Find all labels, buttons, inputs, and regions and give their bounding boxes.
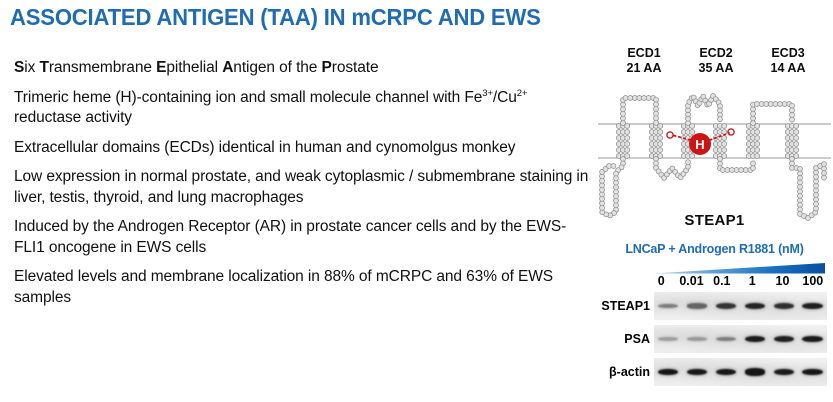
protein-name-label: STEAP1 <box>596 212 833 229</box>
paragraph-heme-channel-part2: /Cu <box>493 89 517 106</box>
concentration-5: 100 <box>798 274 828 288</box>
blot-row-image <box>654 292 827 320</box>
paragraph-normal-expression: Low expression in normal prostate, and w… <box>14 167 590 208</box>
blot-title: LNCaP + Androgen R1881 (nM) <box>596 242 833 256</box>
heme-his-residue-left <box>667 132 673 138</box>
blot-row-actin: β-actin <box>596 358 833 386</box>
blot-band <box>716 303 736 309</box>
fe-charge-superscript: 3+ <box>482 87 493 98</box>
ecd1-label: ECD1 21 AA <box>618 46 670 76</box>
paragraph-ar-induction: Induced by the Androgen Receptor (AR) in… <box>14 217 590 258</box>
topology-svg: H <box>596 82 833 222</box>
concentration-2: 0.1 <box>707 274 737 288</box>
concentration-row: 00.010.1110100 <box>646 274 828 290</box>
ecd3-label: ECD3 14 AA <box>762 46 814 76</box>
blot-panels: STEAP1PSAβ-actin <box>596 292 833 391</box>
paragraph-heme-channel-part1: Trimeric heme (H)-containing ion and sma… <box>14 89 482 106</box>
concentration-0: 0 <box>646 274 676 288</box>
ecd1-length: 21 AA <box>618 61 670 76</box>
blot-band <box>687 337 707 341</box>
page-title: ASSOCIATED ANTIGEN (TAA) IN mCRPC AND EW… <box>10 4 792 31</box>
right-figure-column: ECD1 21 AA ECD2 35 AA ECD3 14 AA H <box>596 46 833 402</box>
ecd2-name: ECD2 <box>699 46 732 60</box>
paragraph-heme-channel-part3: reductase activity <box>14 109 132 126</box>
western-blot-figure: LNCaP + Androgen R1881 (nM) 00.010.11101… <box>596 242 833 256</box>
ecd3-name: ECD3 <box>771 46 804 60</box>
concentration-3: 1 <box>737 274 767 288</box>
ecd-header-row: ECD1 21 AA ECD2 35 AA ECD3 14 AA <box>596 46 833 82</box>
heme-letter: H <box>695 137 704 152</box>
concentration-4: 10 <box>767 274 797 288</box>
paragraph-ecd-identity: Extracellular domains (ECDs) identical i… <box>14 138 590 159</box>
cu-charge-superscript: 2+ <box>517 87 528 98</box>
blot-row-label: β-actin <box>596 358 650 386</box>
concentration-1: 0.01 <box>676 274 706 288</box>
blot-band <box>658 337 678 341</box>
blot-band <box>745 368 765 375</box>
gradient-triangle <box>653 263 825 274</box>
blot-band <box>774 303 794 309</box>
blot-background <box>654 358 827 386</box>
blot-row-psa: PSA <box>596 325 833 353</box>
blot-row-image <box>654 325 827 353</box>
paragraph-elevated-levels: Elevated levels and membrane localizatio… <box>14 267 590 308</box>
blot-background <box>654 292 827 320</box>
paragraph-heme-channel: Trimeric heme (H)-containing ion and sma… <box>14 88 590 129</box>
ecd2-label: ECD2 35 AA <box>690 46 742 76</box>
blot-row-steap1: STEAP1 <box>596 292 833 320</box>
blot-row-image <box>654 358 827 386</box>
ecd3-length: 14 AA <box>762 61 814 76</box>
blot-row-label: PSA <box>596 325 650 353</box>
ecd1-name: ECD1 <box>627 46 660 60</box>
ecd2-length: 35 AA <box>690 61 742 76</box>
heme-his-residue-right <box>728 129 734 135</box>
blot-row-label: STEAP1 <box>596 292 650 320</box>
blot-band <box>687 303 707 308</box>
blot-background <box>654 325 827 353</box>
body-text-column: Six Transmembrane Epithelial Antigen of … <box>14 58 590 317</box>
paragraph-steap-acronym: Six Transmembrane Epithelial Antigen of … <box>14 58 590 79</box>
amino-acid-bead-chains <box>600 94 827 221</box>
steap1-topology-diagram: H <box>596 82 833 222</box>
